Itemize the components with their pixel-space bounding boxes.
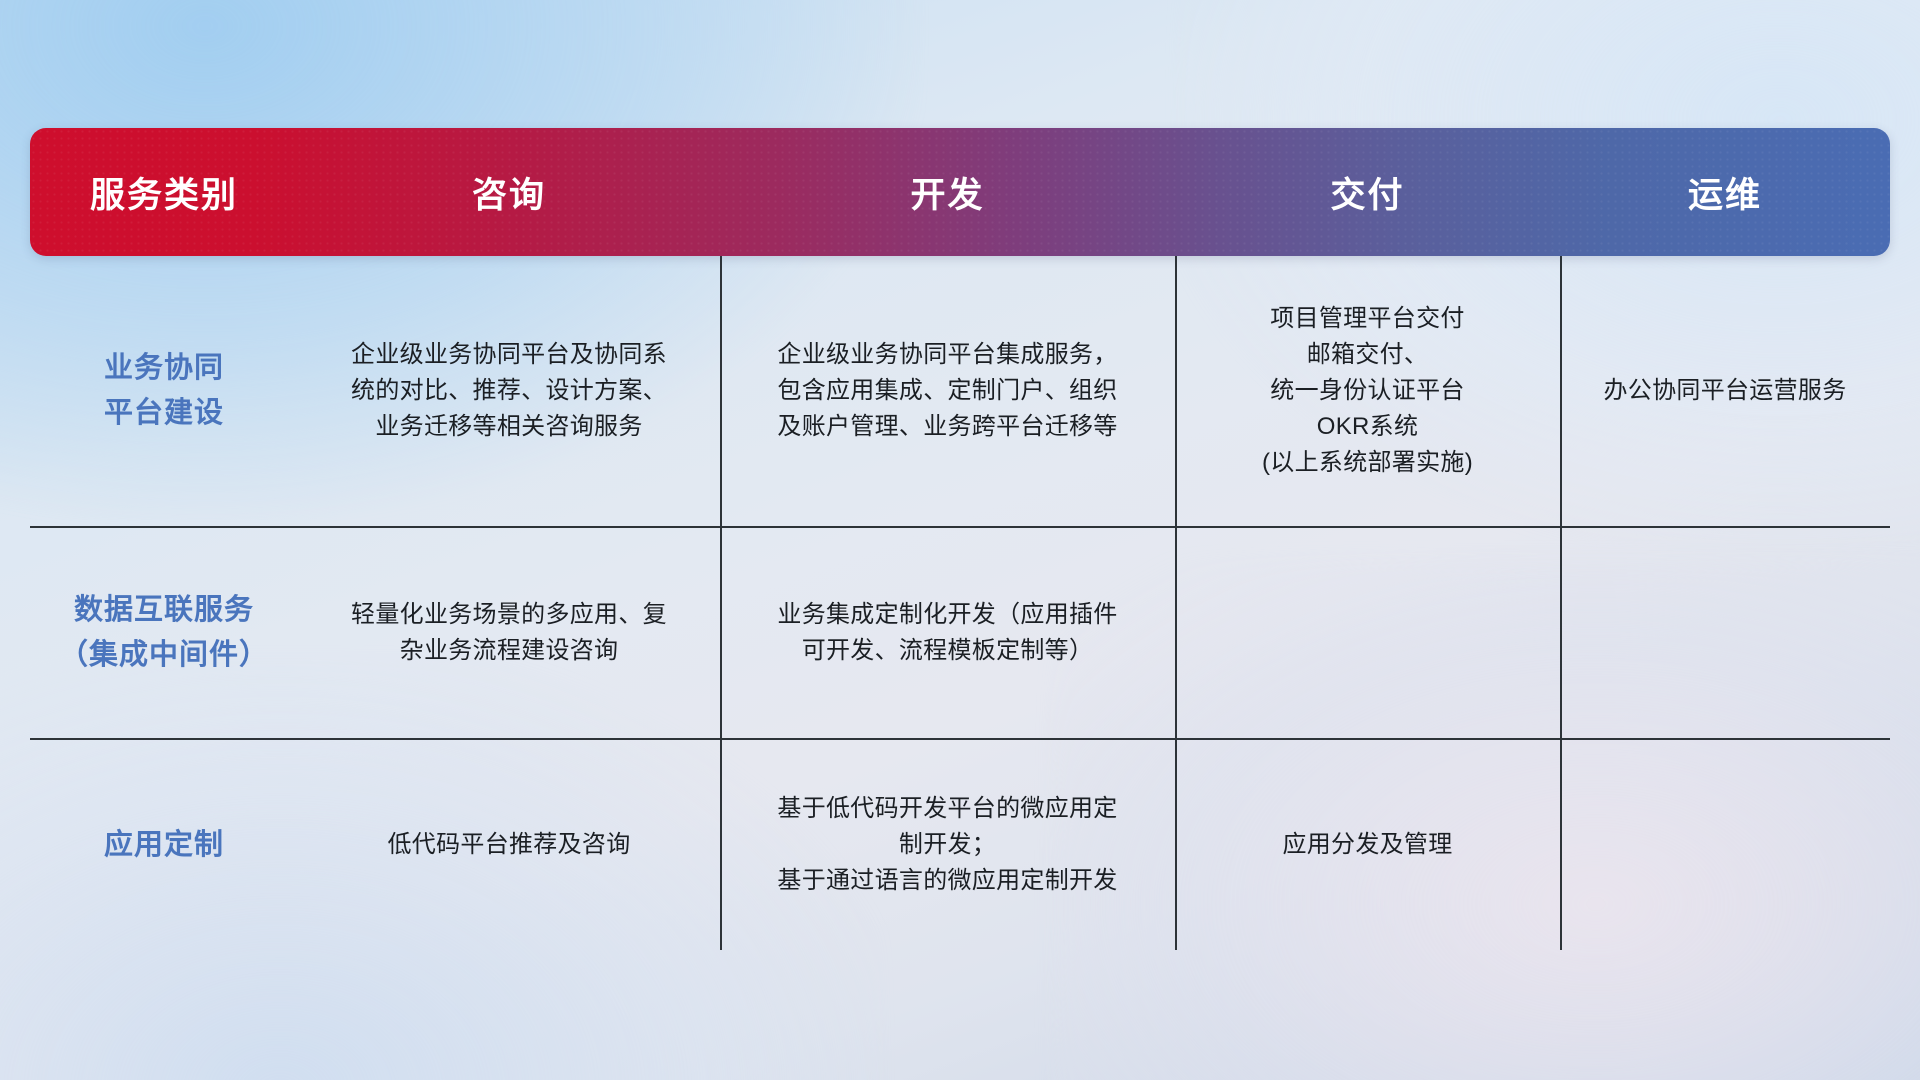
cell-delivery: 应用分发及管理: [1175, 740, 1560, 950]
cell-operations: [1560, 528, 1890, 738]
cell-delivery: [1175, 528, 1560, 738]
column-header-delivery: 交付: [1175, 167, 1560, 218]
table-body: 业务协同 平台建设 企业级业务协同平台及协同系 统的对比、推荐、设计方案、 业务…: [30, 256, 1890, 950]
cell-development: 基于低代码开发平台的微应用定 制开发； 基于通过语言的微应用定制开发: [720, 740, 1175, 950]
column-header-consulting: 咨询: [298, 167, 720, 218]
table-row: 业务协同 平台建设 企业级业务协同平台及协同系 统的对比、推荐、设计方案、 业务…: [30, 256, 1890, 528]
cell-text: 低代码平台推荐及咨询: [388, 827, 631, 863]
cell-consulting: 轻量化业务场景的多应用、复 杂业务流程建设咨询: [298, 528, 720, 738]
cell-text: 项目管理平台交付 邮箱交付、 统一身份认证平台 OKR系统 (以上系统部署实施): [1262, 301, 1473, 481]
column-header-category: 服务类别: [30, 167, 298, 218]
cell-category: 业务协同 平台建设: [30, 256, 298, 526]
table-header-row: 服务类别 咨询 开发 交付 运维: [30, 128, 1890, 256]
cell-development: 企业级业务协同平台集成服务， 包含应用集成、定制门户、组织 及账户管理、业务跨平…: [720, 256, 1175, 526]
cell-text: 轻量化业务场景的多应用、复 杂业务流程建设咨询: [351, 597, 667, 669]
cell-text: 业务集成定制化开发（应用插件 可开发、流程模板定制等）: [777, 597, 1117, 669]
cell-consulting: 低代码平台推荐及咨询: [298, 740, 720, 950]
category-label: 数据互联服务 （集成中间件）: [59, 588, 269, 678]
category-label: 业务协同 平台建设: [104, 346, 224, 436]
cell-text: 企业级业务协同平台及协同系 统的对比、推荐、设计方案、 业务迁移等相关咨询服务: [351, 337, 667, 445]
table-row: 数据互联服务 （集成中间件） 轻量化业务场景的多应用、复 杂业务流程建设咨询 业…: [30, 528, 1890, 740]
table-row: 应用定制 低代码平台推荐及咨询 基于低代码开发平台的微应用定 制开发； 基于通过…: [30, 740, 1890, 950]
cell-delivery: 项目管理平台交付 邮箱交付、 统一身份认证平台 OKR系统 (以上系统部署实施): [1175, 256, 1560, 526]
column-header-development: 开发: [720, 167, 1175, 218]
service-matrix-table: 服务类别 咨询 开发 交付 运维 业务协同 平台建设 企业级业务协同平台及协同系…: [30, 128, 1890, 950]
cell-development: 业务集成定制化开发（应用插件 可开发、流程模板定制等）: [720, 528, 1175, 738]
category-label: 应用定制: [104, 823, 224, 868]
cell-category: 数据互联服务 （集成中间件）: [30, 528, 298, 738]
cell-text: 基于低代码开发平台的微应用定 制开发； 基于通过语言的微应用定制开发: [777, 791, 1117, 899]
cell-text: 应用分发及管理: [1282, 827, 1452, 863]
cell-text: 办公协同平台运营服务: [1604, 373, 1847, 409]
cell-category: 应用定制: [30, 740, 298, 950]
cell-text: 企业级业务协同平台集成服务， 包含应用集成、定制门户、组织 及账户管理、业务跨平…: [777, 337, 1117, 445]
cell-consulting: 企业级业务协同平台及协同系 统的对比、推荐、设计方案、 业务迁移等相关咨询服务: [298, 256, 720, 526]
cell-operations: 办公协同平台运营服务: [1560, 256, 1890, 526]
cell-operations: [1560, 740, 1890, 950]
column-header-operations: 运维: [1560, 167, 1890, 218]
